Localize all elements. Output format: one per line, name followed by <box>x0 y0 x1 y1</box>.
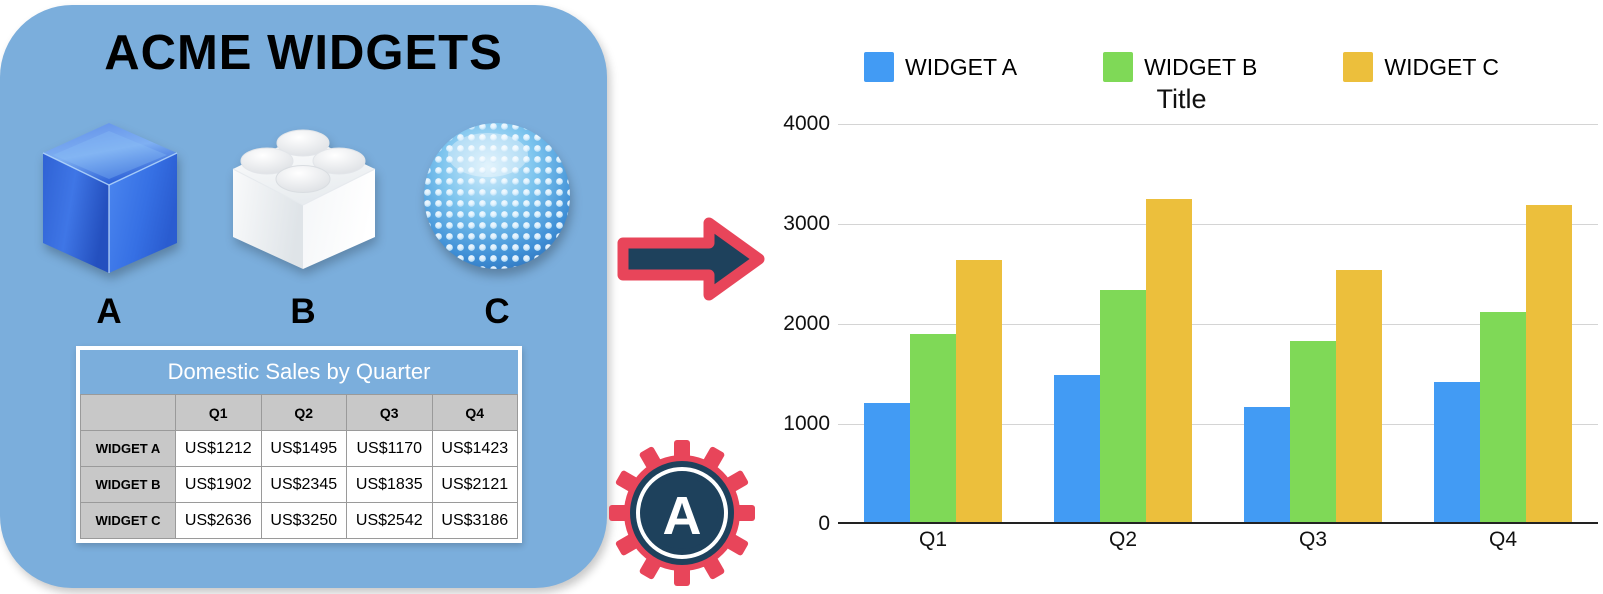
column-header-q2: Q2 <box>261 395 347 431</box>
row-header-widget-c: WIDGET C <box>81 503 176 539</box>
column-header-q4: Q4 <box>432 395 518 431</box>
y-tick-label: 3000 <box>760 212 830 236</box>
x-tick-label-q3: Q3 <box>1218 528 1408 552</box>
bar-group-q2 <box>1028 124 1218 524</box>
legend-swatch-widget-a <box>864 52 894 82</box>
blue-dotted-sphere-icon <box>422 121 572 271</box>
cell-c-q3: US$2542 <box>347 503 433 539</box>
bar-widget-c-q3[interactable] <box>1336 270 1382 524</box>
legend-label-widget-b: WIDGET B <box>1144 54 1257 81</box>
cell-b-q1: US$1902 <box>176 467 262 503</box>
x-tick-label-q4: Q4 <box>1408 528 1598 552</box>
bar-widget-b-q3[interactable] <box>1290 341 1336 525</box>
page-title: ACME WIDGETS <box>0 25 607 81</box>
x-tick-label-q1: Q1 <box>838 528 1028 552</box>
legend-swatch-widget-b <box>1103 52 1133 82</box>
table-row: WIDGET C US$2636 US$3250 US$2542 US$3186 <box>81 503 518 539</box>
bar-widget-a-q1[interactable] <box>864 403 910 524</box>
legend-item-widget-a[interactable]: WIDGET A <box>864 52 1017 82</box>
bar-widget-c-q2[interactable] <box>1146 199 1192 524</box>
legend-label-widget-c: WIDGET C <box>1384 54 1499 81</box>
widget-c-cell: C <box>402 113 592 328</box>
row-header-widget-a: WIDGET A <box>81 431 176 467</box>
cell-b-q4: US$2121 <box>432 467 518 503</box>
legend-item-widget-b[interactable]: WIDGET B <box>1103 52 1257 82</box>
bar-widget-a-q2[interactable] <box>1054 375 1100 525</box>
y-tick-label: 0 <box>760 512 830 536</box>
bar-groups <box>838 124 1598 524</box>
bar-group-q4 <box>1408 124 1598 524</box>
x-axis-labels: Q1Q2Q3Q4 <box>838 528 1598 552</box>
widget-b-label: B <box>208 292 398 332</box>
bar-widget-c-q4[interactable] <box>1526 205 1572 524</box>
widget-icon-row: A <box>14 113 594 328</box>
bar-widget-a-q3[interactable] <box>1244 407 1290 524</box>
svg-text:A: A <box>663 486 702 546</box>
white-brick-icon <box>225 117 381 280</box>
y-tick-label: 1000 <box>760 412 830 436</box>
widget-c-label: C <box>402 292 592 332</box>
legend-label-widget-a: WIDGET A <box>905 54 1017 81</box>
bar-widget-b-q1[interactable] <box>910 334 956 524</box>
y-tick-label: 4000 <box>760 112 830 136</box>
plot-frame: 01000200030004000 Q1Q2Q3Q4 <box>760 124 1603 594</box>
bar-widget-b-q2[interactable] <box>1100 290 1146 525</box>
cell-c-q1: US$2636 <box>176 503 262 539</box>
table-header-row: Q1 Q2 Q3 Q4 <box>81 395 518 431</box>
y-tick-label: 2000 <box>760 312 830 336</box>
plot-area <box>838 124 1598 524</box>
table-caption: Domestic Sales by Quarter <box>80 350 518 394</box>
cell-c-q2: US$3250 <box>261 503 347 539</box>
legend-swatch-widget-c <box>1343 52 1373 82</box>
widget-a-cell: A <box>14 113 204 328</box>
bar-group-q3 <box>1218 124 1408 524</box>
cell-c-q4: US$3186 <box>432 503 518 539</box>
table-corner-cell <box>81 395 176 431</box>
cell-a-q1: US$1212 <box>176 431 262 467</box>
column-header-q1: Q1 <box>176 395 262 431</box>
row-header-widget-b: WIDGET B <box>81 467 176 503</box>
cell-b-q2: US$2345 <box>261 467 347 503</box>
acme-gear-logo-icon: A <box>607 438 757 588</box>
sales-data-table: Q1 Q2 Q3 Q4 WIDGET A US$1212 US$1495 US$… <box>80 394 518 539</box>
table-row: WIDGET B US$1902 US$2345 US$1835 US$2121 <box>81 467 518 503</box>
cell-b-q3: US$1835 <box>347 467 433 503</box>
acme-widgets-panel: ACME WIDGETS <box>0 5 607 588</box>
x-tick-label-q2: Q2 <box>1028 528 1218 552</box>
y-axis-labels: 01000200030004000 <box>760 124 830 524</box>
sales-table: Domestic Sales by Quarter Q1 Q2 Q3 Q4 WI… <box>76 346 522 543</box>
legend-item-widget-c[interactable]: WIDGET C <box>1343 52 1499 82</box>
cell-a-q3: US$1170 <box>347 431 433 467</box>
column-header-q3: Q3 <box>347 395 433 431</box>
blue-cube-icon <box>33 117 185 279</box>
table-row: WIDGET A US$1212 US$1495 US$1170 US$1423 <box>81 431 518 467</box>
cell-a-q2: US$1495 <box>261 431 347 467</box>
widget-a-label: A <box>14 292 204 332</box>
cell-a-q4: US$1423 <box>432 431 518 467</box>
x-axis-line <box>838 522 1598 524</box>
bar-widget-b-q4[interactable] <box>1480 312 1526 524</box>
bar-widget-a-q4[interactable] <box>1434 382 1480 524</box>
chart-title: Title <box>760 84 1603 115</box>
chart-legend: WIDGET A WIDGET B WIDGET C <box>760 50 1603 84</box>
bar-widget-c-q1[interactable] <box>956 260 1002 524</box>
widget-b-cell: B <box>208 113 398 328</box>
bar-chart: WIDGET A WIDGET B WIDGET C Title 0100020… <box>760 0 1603 594</box>
right-arrow-icon <box>617 215 765 303</box>
bar-group-q1 <box>838 124 1028 524</box>
